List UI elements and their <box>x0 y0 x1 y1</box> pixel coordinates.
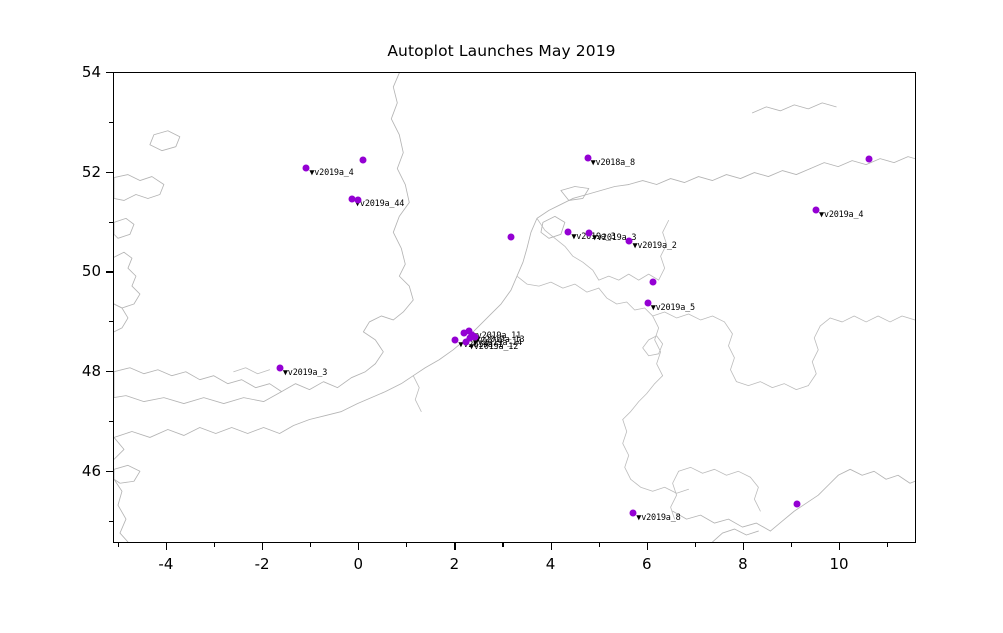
y-axis-tick-label: 52 <box>61 163 101 181</box>
scatter-point <box>865 155 872 162</box>
x-axis-tick-label: 0 <box>353 555 363 573</box>
y-axis-major-tick <box>106 72 113 73</box>
scatter-point-label: ▼v2019a_2 <box>632 241 676 251</box>
x-axis-major-tick <box>262 543 263 550</box>
x-axis-minor-tick <box>695 543 696 547</box>
x-axis-major-tick <box>454 543 455 550</box>
y-axis-major-tick <box>106 371 113 372</box>
x-axis-minor-tick <box>310 543 311 547</box>
x-axis-major-tick <box>839 543 840 550</box>
x-axis-minor-tick <box>118 543 119 547</box>
y-axis-tick-label: 48 <box>61 362 101 380</box>
x-axis-tick-label: -2 <box>255 555 270 573</box>
y-axis-minor-tick <box>109 222 113 223</box>
y-axis-minor-tick <box>109 521 113 522</box>
scatter-point <box>471 334 478 341</box>
x-axis-major-tick <box>551 543 552 550</box>
y-axis-tick-label: 50 <box>61 262 101 280</box>
scatter-point-label: ▼v2018a_8 <box>591 158 635 168</box>
x-axis-minor-tick <box>887 543 888 547</box>
scatter-points-layer: ▼v2019a_4▼v2019a_44▼v2018a_8▼v2019a_4▼v2… <box>114 73 915 542</box>
scatter-point <box>359 157 366 164</box>
x-axis-minor-tick <box>599 543 600 547</box>
x-axis-minor-tick <box>502 543 503 547</box>
scatter-point <box>507 234 514 241</box>
x-axis-tick-label: 8 <box>738 555 748 573</box>
scatter-point-label: ▼v2019a_8 <box>636 513 680 523</box>
map-axes: ▼v2019a_4▼v2019a_44▼v2018a_8▼v2019a_4▼v2… <box>113 72 916 543</box>
x-axis-major-tick <box>743 543 744 550</box>
x-axis-major-tick <box>647 543 648 550</box>
y-axis-tick-label: 54 <box>61 63 101 81</box>
y-axis-major-tick <box>106 471 113 472</box>
x-axis-minor-tick <box>791 543 792 547</box>
x-axis-tick-label: 10 <box>830 555 849 573</box>
x-axis-major-tick <box>358 543 359 550</box>
x-axis-tick-label: 6 <box>642 555 652 573</box>
x-axis-major-tick <box>166 543 167 550</box>
scatter-point-label: ▼v2019a_4 <box>819 210 863 220</box>
scatter-point-label: ▼v2019a_3 <box>283 368 327 378</box>
scatter-point-label: ▼v2019a_5 <box>651 303 695 313</box>
figure-canvas: Autoplot Launches May 2019 <box>0 0 1003 633</box>
y-axis-tick-label: 46 <box>61 462 101 480</box>
scatter-point-label: ▼v2019a_12 <box>469 342 518 352</box>
scatter-point <box>793 501 800 508</box>
x-axis-minor-tick <box>406 543 407 547</box>
y-axis-major-tick <box>106 172 113 173</box>
scatter-point <box>649 279 656 286</box>
chart-title: Autoplot Launches May 2019 <box>0 42 1003 60</box>
x-axis-tick-label: -4 <box>158 555 173 573</box>
y-axis-minor-tick <box>109 321 113 322</box>
x-axis-tick-label: 2 <box>450 555 460 573</box>
scatter-point-label: ▼v2019a_4 <box>309 168 353 178</box>
scatter-point <box>355 197 362 204</box>
scatter-point-label: ▼v2019a_44 <box>355 199 404 209</box>
y-axis-minor-tick <box>109 421 113 422</box>
y-axis-minor-tick <box>109 122 113 123</box>
y-axis-major-tick <box>106 271 113 272</box>
x-axis-minor-tick <box>214 543 215 547</box>
x-axis-tick-label: 4 <box>546 555 556 573</box>
